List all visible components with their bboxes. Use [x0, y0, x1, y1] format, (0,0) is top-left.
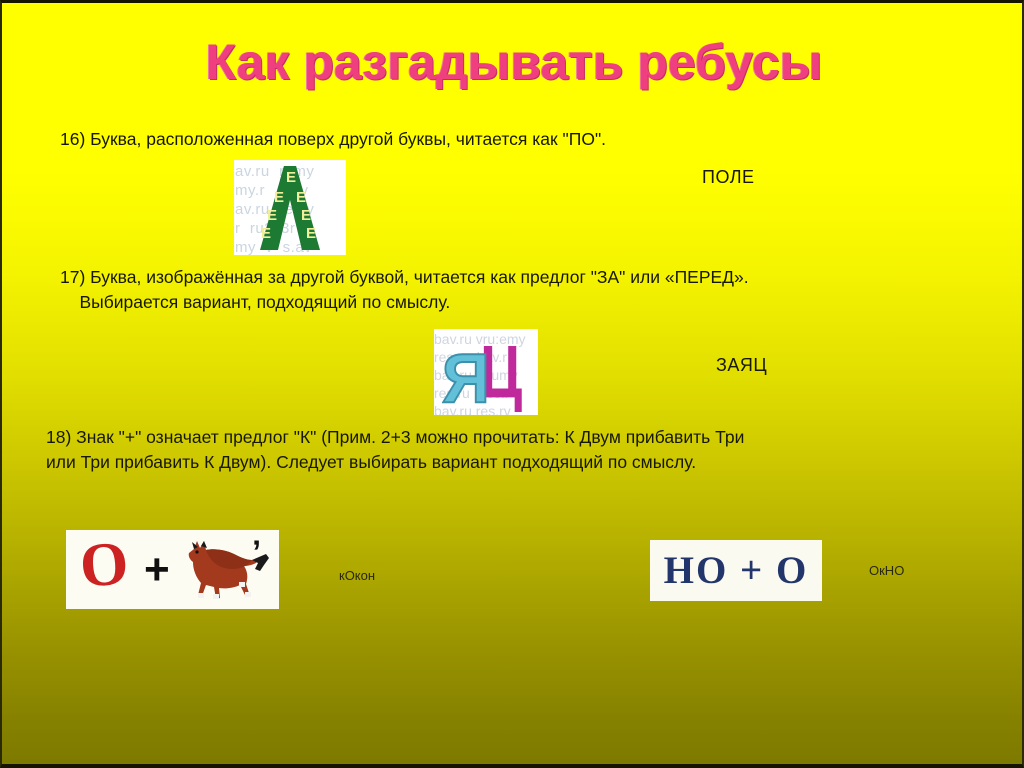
- fill-letter-e: Е: [301, 208, 311, 223]
- rebus-image-kokon: О + ’: [66, 530, 279, 609]
- answer-zayac: ЗАЯЦ: [716, 355, 767, 376]
- slide-canvas: Как разгадывать ребусы 16) Буква, распол…: [0, 0, 1024, 768]
- fill-letter-e: Е: [286, 170, 296, 185]
- caption-okno: ОкНО: [869, 563, 904, 578]
- rule-18-text: 18) Знак "+" означает предлог "К" (Прим.…: [46, 425, 996, 475]
- rebus-image-zayac: bav.ru vru:emy res bav.r bav.ru vrumy re…: [434, 329, 538, 415]
- letter-ya: Я: [442, 343, 490, 413]
- fill-letter-e: Е: [267, 208, 277, 223]
- letter-o-red: О: [78, 532, 130, 597]
- rebus-image-pole: av.ru remy my.r s.av av.ru remy r ru2z3r…: [234, 160, 346, 255]
- rule-17-text: 17) Буква, изображённая за другой буквой…: [60, 265, 990, 315]
- fill-letter-e: Е: [306, 226, 316, 241]
- no-plus-o-text: НО + О: [664, 551, 809, 590]
- apostrophe-mark: ’: [252, 536, 261, 568]
- fill-letter-e: Е: [274, 190, 284, 205]
- rule-16-text: 16) Буква, расположенная поверх другой б…: [60, 127, 960, 152]
- fill-letter-e: Е: [261, 226, 271, 241]
- answer-pole: ПОЛЕ: [702, 167, 755, 188]
- fill-letter-e: Е: [296, 190, 306, 205]
- caption-kokon: кОкон: [339, 568, 375, 583]
- plus-sign: +: [144, 548, 170, 592]
- rebus-image-okno: НО + О: [650, 540, 822, 601]
- page-title: Как разгадывать ребусы: [2, 33, 1024, 91]
